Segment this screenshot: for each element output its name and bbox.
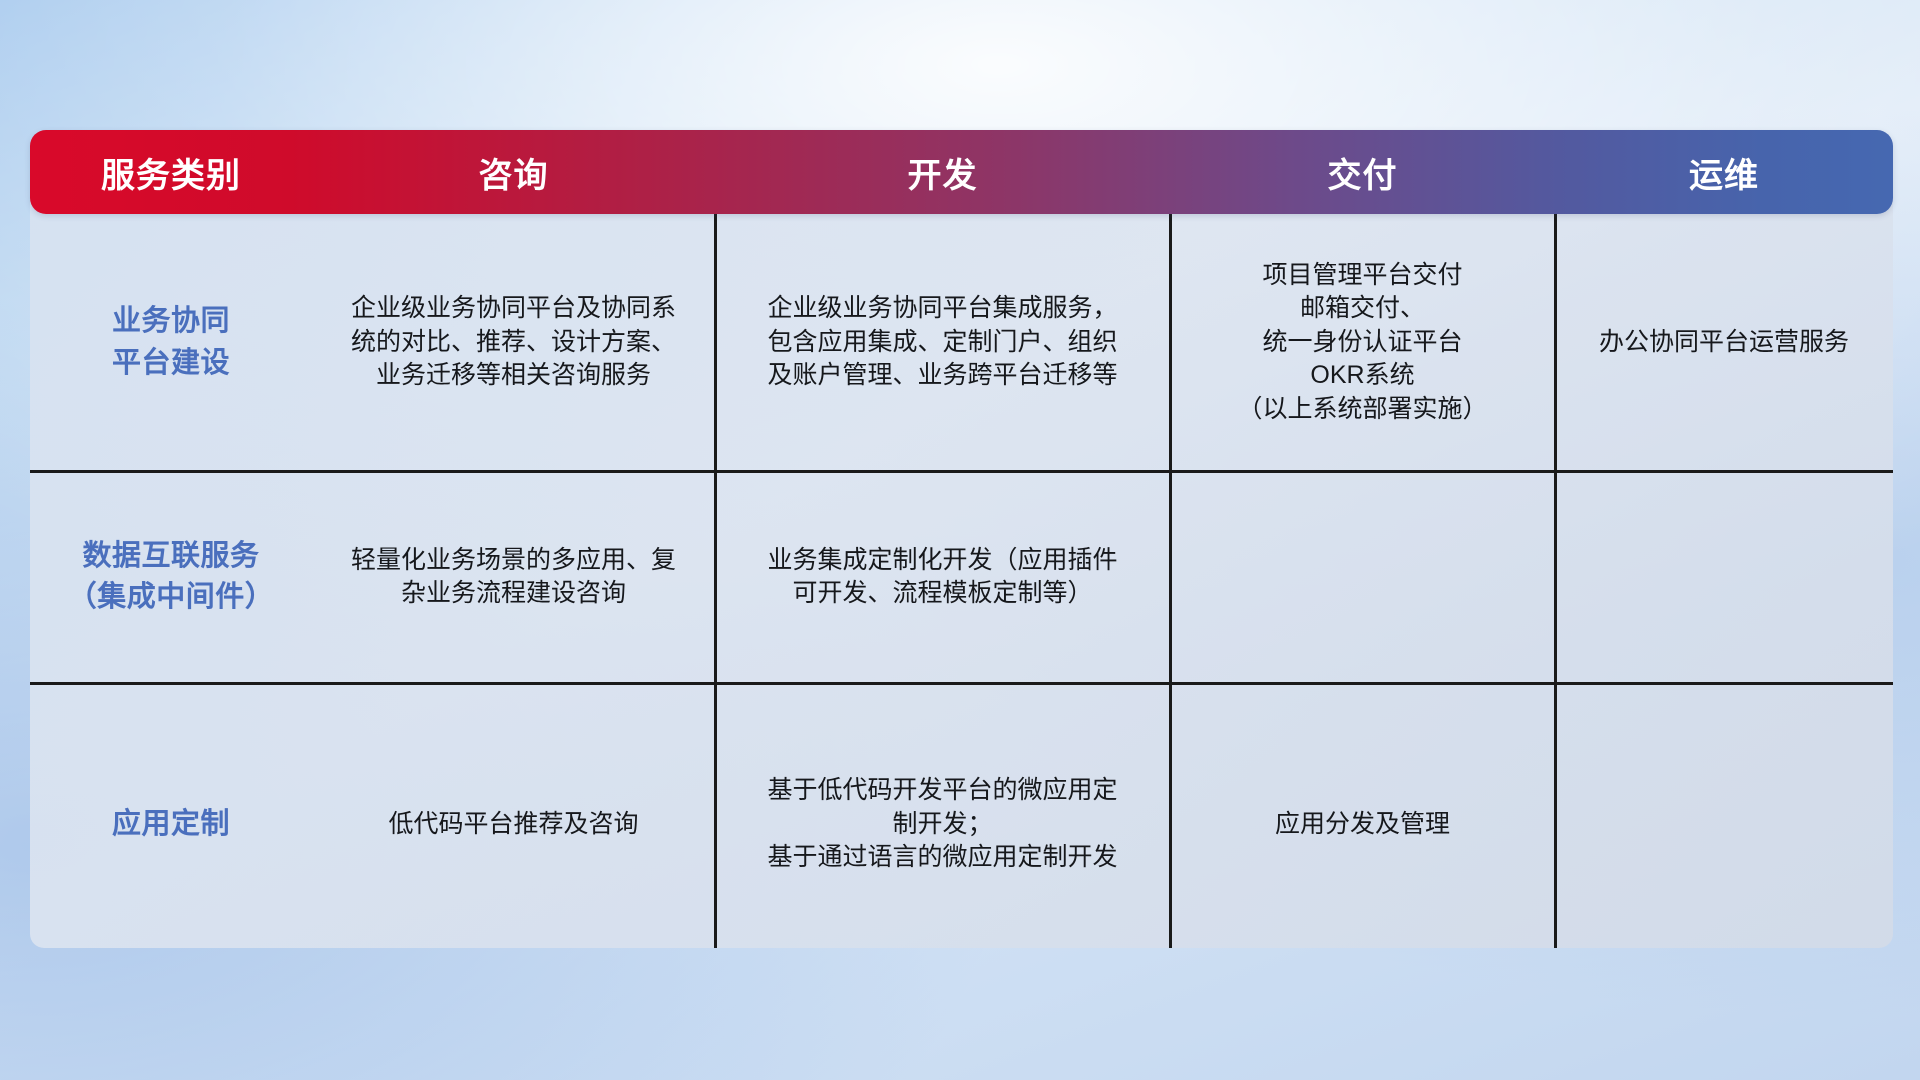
table-header-row: 服务类别咨询开发交付运维 bbox=[30, 130, 1893, 214]
cell-delivery: 应用分发及管理 bbox=[1170, 683, 1555, 948]
service-matrix-table: 服务类别咨询开发交付运维 业务协同 平台建设企业级业务协同平台及协同系 统的对比… bbox=[30, 130, 1893, 948]
cell-category: 业务协同 平台建设 bbox=[30, 214, 312, 471]
column-divider bbox=[1554, 214, 1557, 948]
table-row: 业务协同 平台建设企业级业务协同平台及协同系 统的对比、推荐、设计方案、 业务迁… bbox=[30, 214, 1893, 471]
cell-category: 数据互联服务 （集成中间件） bbox=[30, 471, 312, 683]
table-body: 业务协同 平台建设企业级业务协同平台及协同系 统的对比、推荐、设计方案、 业务迁… bbox=[30, 196, 1893, 948]
cell-development: 企业级业务协同平台集成服务， 包含应用集成、定制门户、组织 及账户管理、业务跨平… bbox=[715, 214, 1170, 471]
column-divider bbox=[1169, 214, 1172, 948]
column-divider bbox=[714, 214, 717, 948]
cell-delivery: 项目管理平台交付 邮箱交付、 统一身份认证平台 OKR系统 （以上系统部署实施） bbox=[1170, 214, 1555, 471]
cell-development: 业务集成定制化开发（应用插件 可开发、流程模板定制等） bbox=[715, 471, 1170, 683]
cell-category: 应用定制 bbox=[30, 683, 312, 948]
column-header-delivery: 交付 bbox=[1170, 148, 1555, 197]
cell-development: 基于低代码开发平台的微应用定 制开发； 基于通过语言的微应用定制开发 bbox=[715, 683, 1170, 948]
column-header-operations: 运维 bbox=[1555, 148, 1893, 197]
cell-consulting: 低代码平台推荐及咨询 bbox=[312, 683, 715, 948]
table-row: 数据互联服务 （集成中间件）轻量化业务场景的多应用、复 杂业务流程建设咨询业务集… bbox=[30, 471, 1893, 683]
cell-consulting: 轻量化业务场景的多应用、复 杂业务流程建设咨询 bbox=[312, 471, 715, 683]
cell-consulting: 企业级业务协同平台及协同系 统的对比、推荐、设计方案、 业务迁移等相关咨询服务 bbox=[312, 214, 715, 471]
column-header-development: 开发 bbox=[715, 148, 1170, 197]
cell-operations: 办公协同平台运营服务 bbox=[1555, 214, 1893, 471]
table-rows-container: 业务协同 平台建设企业级业务协同平台及协同系 统的对比、推荐、设计方案、 业务迁… bbox=[30, 214, 1893, 948]
cell-delivery bbox=[1170, 471, 1555, 683]
cell-operations bbox=[1555, 683, 1893, 948]
cell-operations bbox=[1555, 471, 1893, 683]
table-row: 应用定制低代码平台推荐及咨询基于低代码开发平台的微应用定 制开发； 基于通过语言… bbox=[30, 683, 1893, 948]
slide-canvas: 服务类别咨询开发交付运维 业务协同 平台建设企业级业务协同平台及协同系 统的对比… bbox=[0, 0, 1920, 1080]
column-header-consulting: 咨询 bbox=[312, 148, 715, 197]
column-header-category: 服务类别 bbox=[30, 148, 312, 197]
